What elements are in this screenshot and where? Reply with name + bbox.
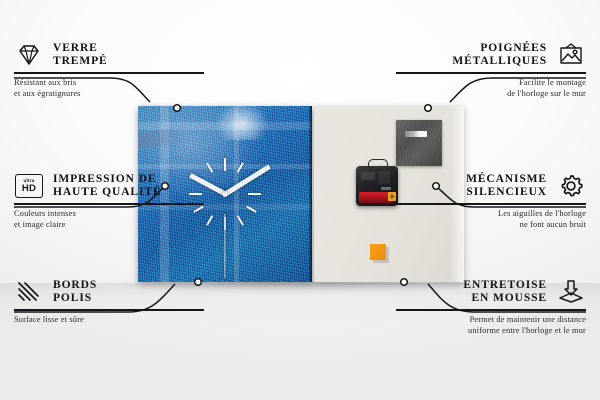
callout-title-line1: MÉCANISME [466,173,547,187]
callout-impression-haute-qualite: ultra HD IMPRESSION DE HAUTE QUALITÉ Cou… [14,171,204,230]
diamond-icon [14,40,44,70]
callout-desc-line1: Surface lisse et sûre [14,314,204,325]
callout-title-line1: POIGNÉES [452,42,547,56]
callout-header: ENTRETOISE EN MOUSSE [396,277,586,307]
callout-title-line1: VERRE [53,42,108,56]
callout-entretoise-en-mousse: ENTRETOISE EN MOUSSE Permet de maintenir… [396,277,586,336]
foam-spacer-pad [370,244,386,260]
callout-header: MÉCANISME SILENCIEUX [396,171,586,201]
hd-badge-main-text: HD [22,184,36,194]
callout-desc-line2: ne font aucun bruit [396,219,586,230]
callout-desc-line1: Permet de maintenir une distance [396,314,586,325]
callout-divider [14,309,204,311]
callout-title-line2: MÉTALLIQUES [452,55,547,69]
callout-desc-line1: Les aiguilles de l'horloge [396,208,586,219]
callout-title-line1: BORDS [53,279,97,293]
callout-desc-line1: Facilite le montage [396,77,586,88]
hd-badge: ultra HD [15,174,43,198]
callout-divider [396,309,586,311]
diagonal-lines-icon [14,277,44,307]
picture-hanger-icon [556,40,586,70]
callout-title-line2: SILENCIEUX [466,186,547,200]
gear-icon [556,171,586,201]
callout-title-line2: TREMPÉ [53,55,108,69]
callout-desc-line2: et aux égratignures [14,88,204,99]
print-glow [215,106,269,140]
callout-title: IMPRESSION DE HAUTE QUALITÉ [53,173,162,200]
movement-detail [361,172,375,180]
callout-title-line1: IMPRESSION DE [53,173,162,187]
callout-header: VERRE TREMPÉ [14,40,204,70]
ultra-hd-icon: ultra HD [14,171,44,201]
movement-hook [368,159,388,169]
movement-detail [381,187,391,190]
callout-poignees-metalliques: POIGNÉES MÉTALLIQUES Facilite le montage… [396,40,586,99]
callout-desc-line2: uniforme entre l'horloge et le mur [396,325,586,336]
battery [359,192,393,203]
callout-title: BORDS POLIS [53,279,97,306]
infographic-canvas: VERRE TREMPÉ Résistant aux bris et aux é… [0,0,600,400]
callout-title-line2: HAUTE QUALITÉ [53,186,162,200]
callout-title-line1: ENTRETOISE [463,279,547,293]
callout-title: MÉCANISME SILENCIEUX [466,173,547,200]
callout-desc-line1: Résistant aux bris [14,77,204,88]
callout-bords-polis: BORDS POLIS Surface lisse et sûre [14,277,204,325]
callout-title-line2: EN MOUSSE [463,292,547,306]
callout-divider [396,72,586,74]
battery-terminal-icon [388,192,396,201]
clock-center-cap [222,191,228,197]
callout-desc-line2: de l'horloge sur le mur [396,88,586,99]
callout-verre-trempe: VERRE TREMPÉ Résistant aux bris et aux é… [14,40,204,99]
callout-divider [14,203,204,205]
callout-header: BORDS POLIS [14,277,204,307]
callout-divider [396,203,586,205]
callout-divider [14,72,204,74]
callout-mecanisme-silencieux: MÉCANISME SILENCIEUX Les aiguilles de l'… [396,171,586,230]
glass-edge [309,106,312,282]
metal-hanger-plate [396,120,442,166]
movement-detail [379,171,390,184]
callout-title: VERRE TREMPÉ [53,42,108,69]
callout-title: ENTRETOISE EN MOUSSE [463,279,547,306]
callout-header: POIGNÉES MÉTALLIQUES [396,40,586,70]
foam-spacer-icon [556,277,586,307]
callout-desc-line1: Couleurs intenses [14,208,204,219]
hanger-slot [405,131,427,137]
callout-title: POIGNÉES MÉTALLIQUES [452,42,547,69]
callout-desc-line2: et image claire [14,219,204,230]
callout-title-line2: POLIS [53,292,97,306]
callout-header: ultra HD IMPRESSION DE HAUTE QUALITÉ [14,171,204,201]
quartz-movement-box [356,166,398,206]
